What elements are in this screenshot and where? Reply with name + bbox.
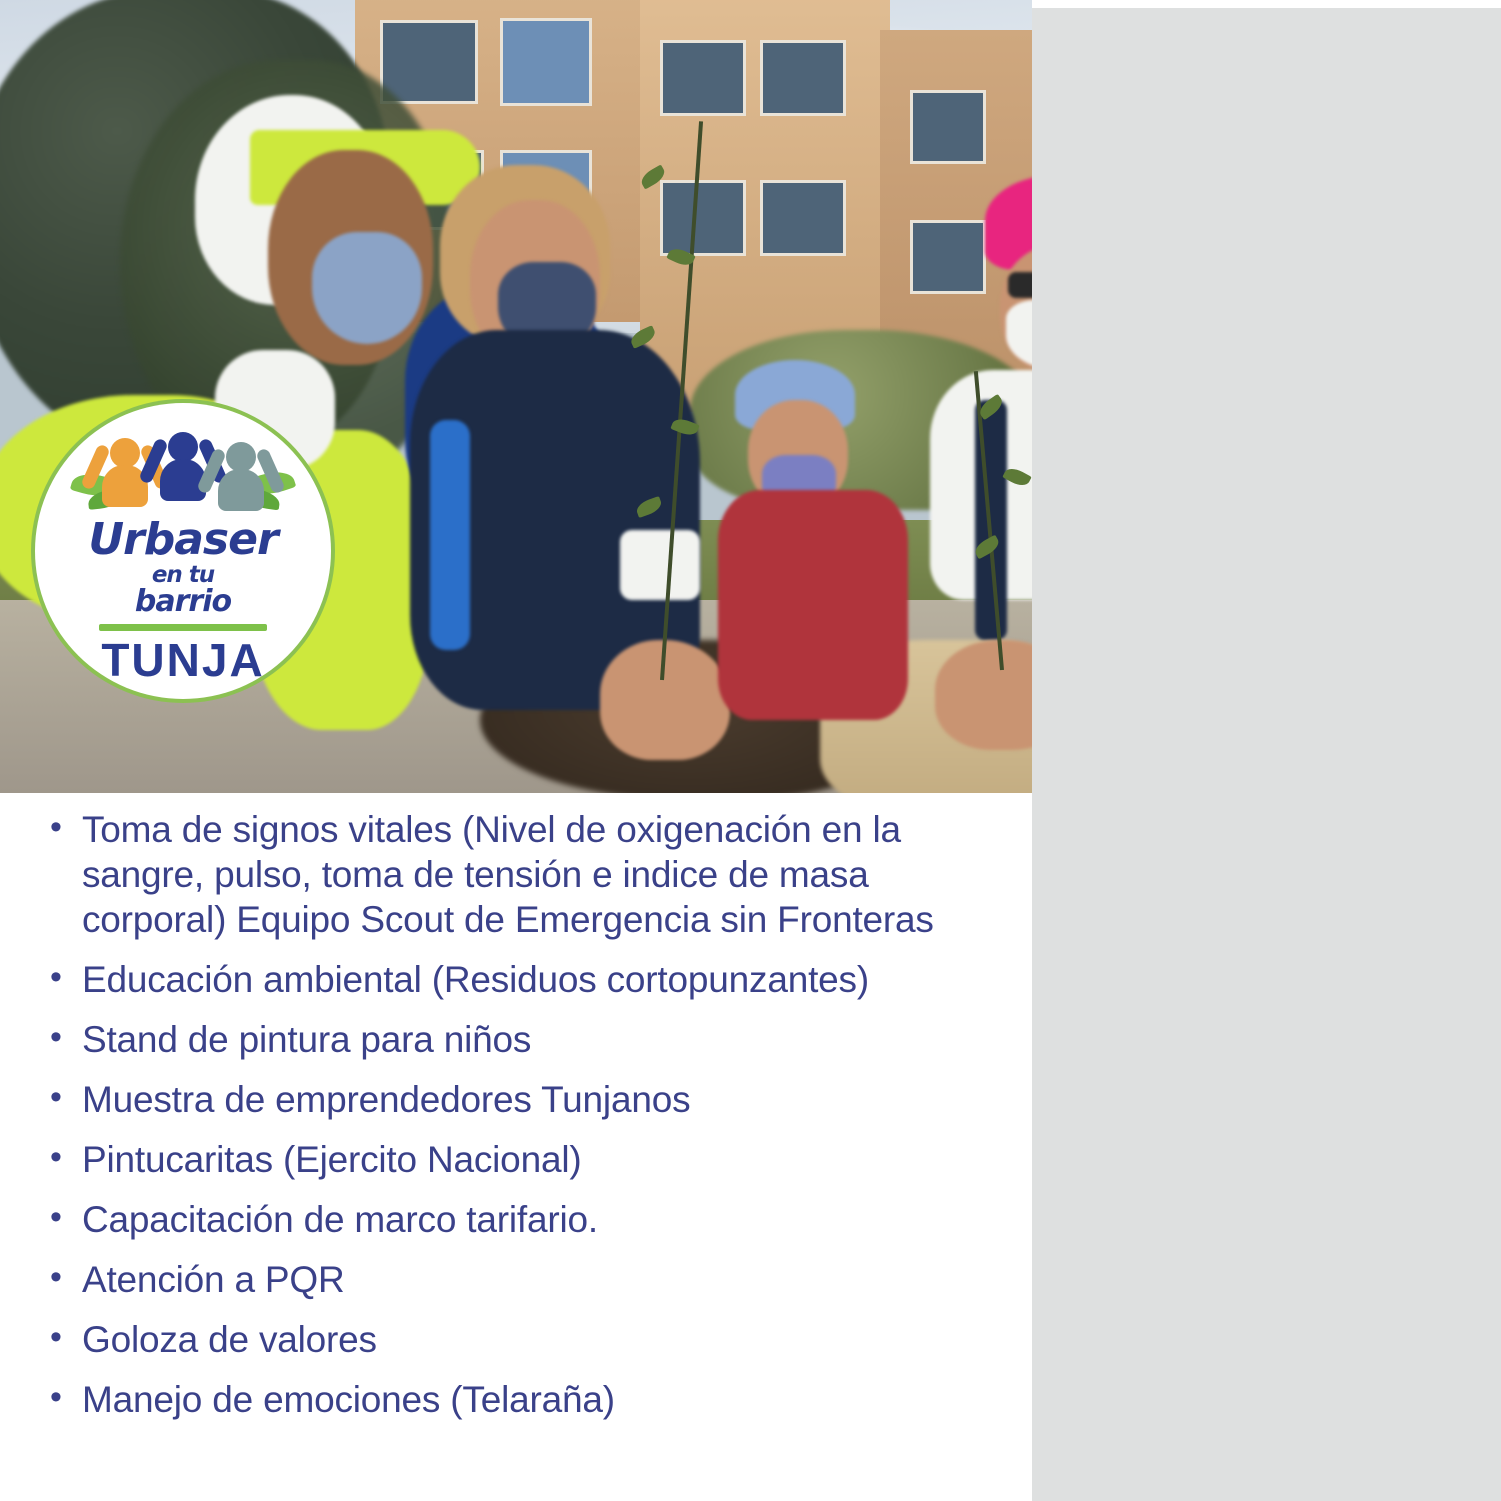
woman-glasses — [1008, 272, 1032, 298]
window-8 — [760, 180, 846, 256]
logo-divider — [99, 624, 267, 631]
logo-figure-teal-body — [218, 469, 264, 511]
logo-figure-orange-head — [110, 438, 140, 468]
window-5 — [660, 40, 746, 116]
logo-brand-name: Urbaser — [88, 518, 277, 562]
urbaser-logo-badge: Urbaser en tu barrio TUNJA — [35, 403, 331, 699]
poster-root: Urbaser en tu barrio TUNJA — [0, 0, 1501, 1501]
woman-hand — [935, 640, 1032, 750]
list-item: Muestra de emprendedores Tunjanos — [0, 1077, 1032, 1122]
list-item: Manejo de emociones (Telaraña) — [0, 1377, 1032, 1422]
list-item: Educación ambiental (Residuos cortopunza… — [0, 957, 1032, 1002]
window-10 — [910, 220, 986, 294]
logo-figure-blue-body — [160, 459, 206, 501]
top-white-strip — [1032, 0, 1501, 8]
window-2 — [500, 18, 592, 106]
volunteer-lanyard — [430, 420, 470, 650]
activities-section: Toma de signos vitales (Nivel de oxigena… — [0, 793, 1032, 1501]
logo-figures — [78, 424, 288, 516]
window-7 — [660, 180, 746, 256]
logo-city-name: TUNJA — [101, 637, 264, 683]
logo-figure-teal — [212, 442, 270, 516]
list-item: Pintucaritas (Ejercito Nacional) — [0, 1137, 1032, 1182]
list-item: Toma de signos vitales (Nivel de oxigena… — [0, 807, 1032, 942]
child-1-jacket — [718, 490, 908, 720]
logo-tagline-line2: barrio — [135, 587, 231, 617]
list-item: Atención a PQR — [0, 1257, 1032, 1302]
window-9 — [910, 90, 986, 164]
list-item: Goloza de valores — [0, 1317, 1032, 1362]
activities-list: Toma de signos vitales (Nivel de oxigena… — [0, 793, 1032, 1422]
window-1 — [380, 20, 478, 104]
window-6 — [760, 40, 846, 116]
logo-figure-blue-head — [168, 432, 198, 462]
volunteer-badge — [620, 530, 700, 600]
list-item: Stand de pintura para niños — [0, 1017, 1032, 1062]
logo-figure-teal-head — [226, 442, 256, 472]
icons-panel — [1032, 8, 1501, 1501]
worker-mask — [312, 232, 422, 344]
list-item: Capacitación de marco tarifario. — [0, 1197, 1032, 1242]
